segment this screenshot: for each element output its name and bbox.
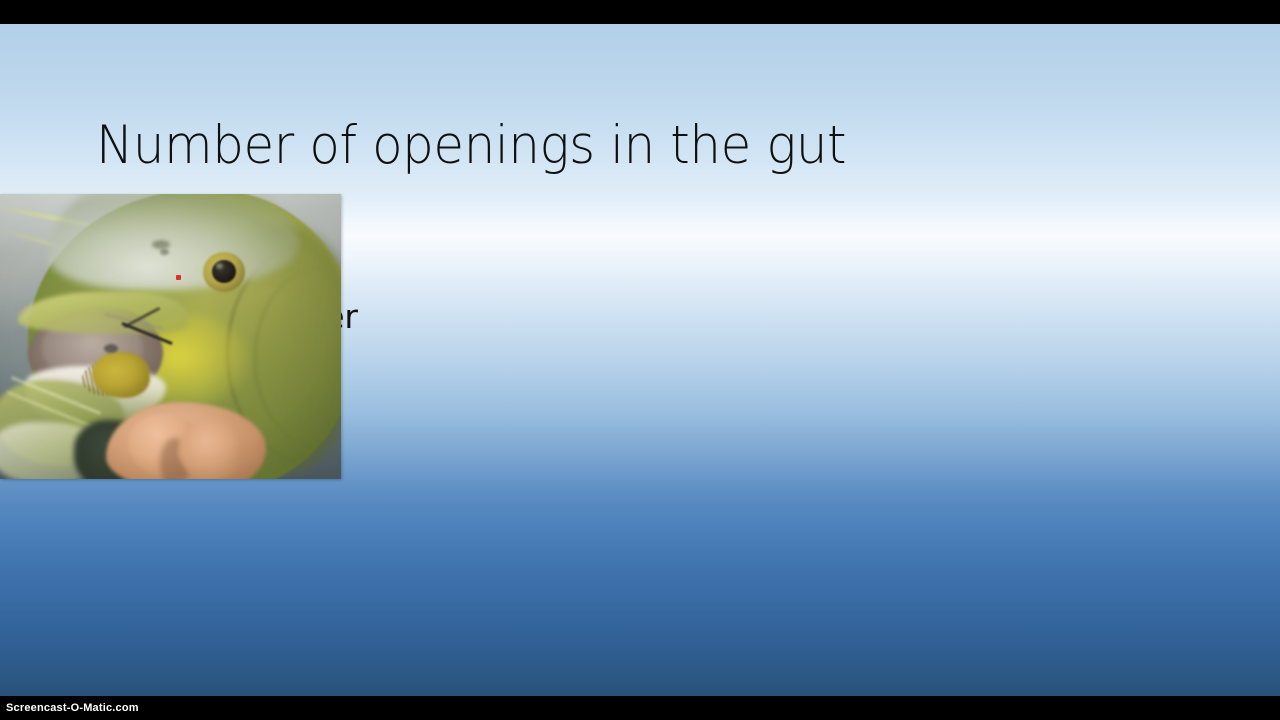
slide-title: Number of openings in the gut (96, 114, 846, 178)
fish-nostril (152, 240, 170, 249)
cursor-pointer-dot (176, 275, 181, 280)
screencast-video-frame: Number of openings in the gut consumer (0, 0, 1280, 720)
fish-head-photo (0, 194, 341, 479)
finger-lower (178, 420, 244, 479)
presentation-slide: Number of openings in the gut consumer (0, 24, 1280, 696)
fishing-fly-detail (104, 344, 118, 353)
fishing-fly-body (92, 352, 150, 398)
screencast-o-matic-watermark: Screencast-O-Matic.com (6, 702, 139, 714)
fish-head-highlight (48, 194, 298, 290)
fish-nostril-secondary (160, 249, 169, 255)
letterbox-bar-bottom (0, 696, 1280, 720)
fish-eye-glint (216, 263, 223, 269)
letterbox-bar-top (0, 0, 1280, 24)
